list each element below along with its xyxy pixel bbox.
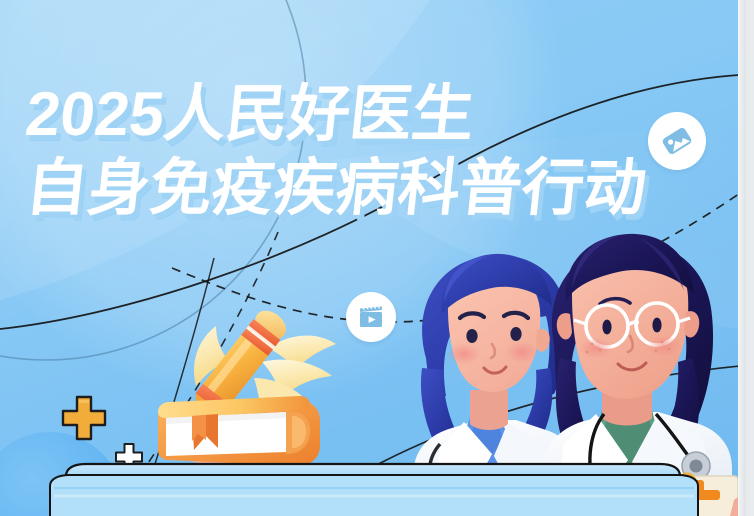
title-line-1: 2025人民好医生 xyxy=(23,84,650,146)
video-badge[interactable]: 视频 xyxy=(346,292,396,342)
canvas-right-edge xyxy=(738,0,746,516)
poster-canvas: 2025人民好医生 自身免疫疾病科普行动 图片 视频 xyxy=(0,0,746,516)
page-title: 2025人民好医生 自身免疫疾病科普行动 xyxy=(26,84,646,220)
photo-badge[interactable]: 图片 xyxy=(648,112,706,170)
title-line-2: 自身免疫疾病科普行动 xyxy=(23,158,650,220)
desk-surface xyxy=(0,462,746,516)
book-shape xyxy=(158,396,320,466)
plus-icon-orange xyxy=(58,392,110,444)
